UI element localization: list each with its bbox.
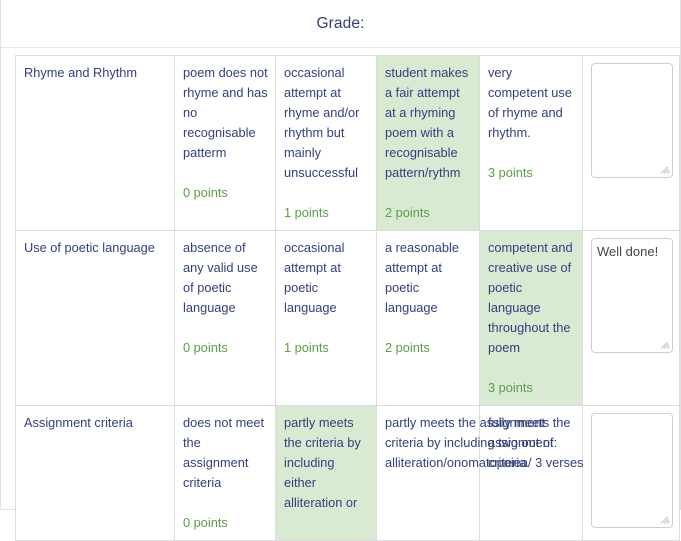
level-points: 3 points	[488, 163, 575, 183]
table-row: Use of poetic language absence of any va…	[16, 231, 680, 406]
rubric-level-cell-selected[interactable]: student makes a fair attempt at a rhymin…	[377, 56, 480, 231]
level-description: partly meets the assignment criteria by …	[385, 413, 585, 473]
rubric-level-cell[interactable]: very competent use of rhyme and rhythm. …	[480, 56, 583, 231]
resize-handle-icon[interactable]	[659, 339, 671, 351]
level-description: student makes a fair attempt at a rhymin…	[385, 63, 472, 183]
rubric-level-cell-selected[interactable]: competent and creative use of poetic lan…	[480, 231, 583, 406]
comment-textarea[interactable]	[591, 413, 673, 528]
rubric-level-cell[interactable]: does not meet the assignment criteria 0 …	[175, 406, 276, 541]
level-points: 0 points	[183, 338, 268, 358]
level-description: a reasonable attempt at poetic language	[385, 238, 472, 318]
level-description: poem does not rhyme and has no recognisa…	[183, 63, 268, 163]
comment-textarea[interactable]: Well done!	[591, 238, 673, 353]
rubric-level-cell-selected[interactable]: partly meets the criteria by including e…	[276, 406, 377, 541]
rubric-level-cell[interactable]: absence of any valid use of poetic langu…	[175, 231, 276, 406]
comment-textarea[interactable]	[591, 63, 673, 178]
resize-handle-icon[interactable]	[659, 164, 671, 176]
rubric-level-cell[interactable]: occasional attempt at rhyme and/or rhyth…	[276, 56, 377, 231]
level-description: occasional attempt at poetic language	[284, 238, 369, 318]
comment-cell	[583, 56, 680, 231]
level-description: very competent use of rhyme and rhythm.	[488, 63, 575, 143]
level-points: 0 points	[183, 183, 268, 203]
level-description: competent and creative use of poetic lan…	[488, 238, 575, 358]
table-row: Assignment criteria does not meet the as…	[16, 406, 680, 541]
level-points: 1 points	[284, 338, 369, 358]
rubric-table: Rhyme and Rhythm poem does not rhyme and…	[15, 55, 680, 541]
grade-page: Grade: Rhyme and Rhythm po	[0, 0, 681, 510]
level-points: 0 points	[183, 513, 268, 533]
level-points: 3 points	[488, 378, 575, 398]
panel-header: Grade:	[1, 0, 680, 48]
resize-handle-icon[interactable]	[659, 514, 671, 526]
comment-cell: Well done!	[583, 231, 680, 406]
level-description: absence of any valid use of poetic langu…	[183, 238, 268, 318]
criterion-name: Assignment criteria	[16, 406, 175, 541]
page-title: Grade:	[317, 15, 365, 33]
panel-body: Rhyme and Rhythm poem does not rhyme and…	[1, 48, 680, 541]
level-points: 2 points	[385, 203, 472, 223]
level-points: 2 points	[385, 338, 472, 358]
level-description: partly meets the criteria by including e…	[284, 413, 369, 513]
rubric-level-cell[interactable]: occasional attempt at poetic language 1 …	[276, 231, 377, 406]
rubric-level-cell[interactable]: partly meets the assignment criteria by …	[377, 406, 480, 541]
criterion-name: Use of poetic language	[16, 231, 175, 406]
level-description: occasional attempt at rhyme and/or rhyth…	[284, 63, 369, 183]
comment-cell	[583, 406, 680, 541]
level-description: does not meet the assignment criteria	[183, 413, 268, 493]
table-row: Rhyme and Rhythm poem does not rhyme and…	[16, 56, 680, 231]
grade-panel: Grade: Rhyme and Rhythm po	[0, 0, 681, 510]
criterion-name: Rhyme and Rhythm	[16, 56, 175, 231]
rubric-level-cell[interactable]: poem does not rhyme and has no recognisa…	[175, 56, 276, 231]
level-points: 1 points	[284, 203, 369, 223]
rubric-level-cell[interactable]: a reasonable attempt at poetic language …	[377, 231, 480, 406]
